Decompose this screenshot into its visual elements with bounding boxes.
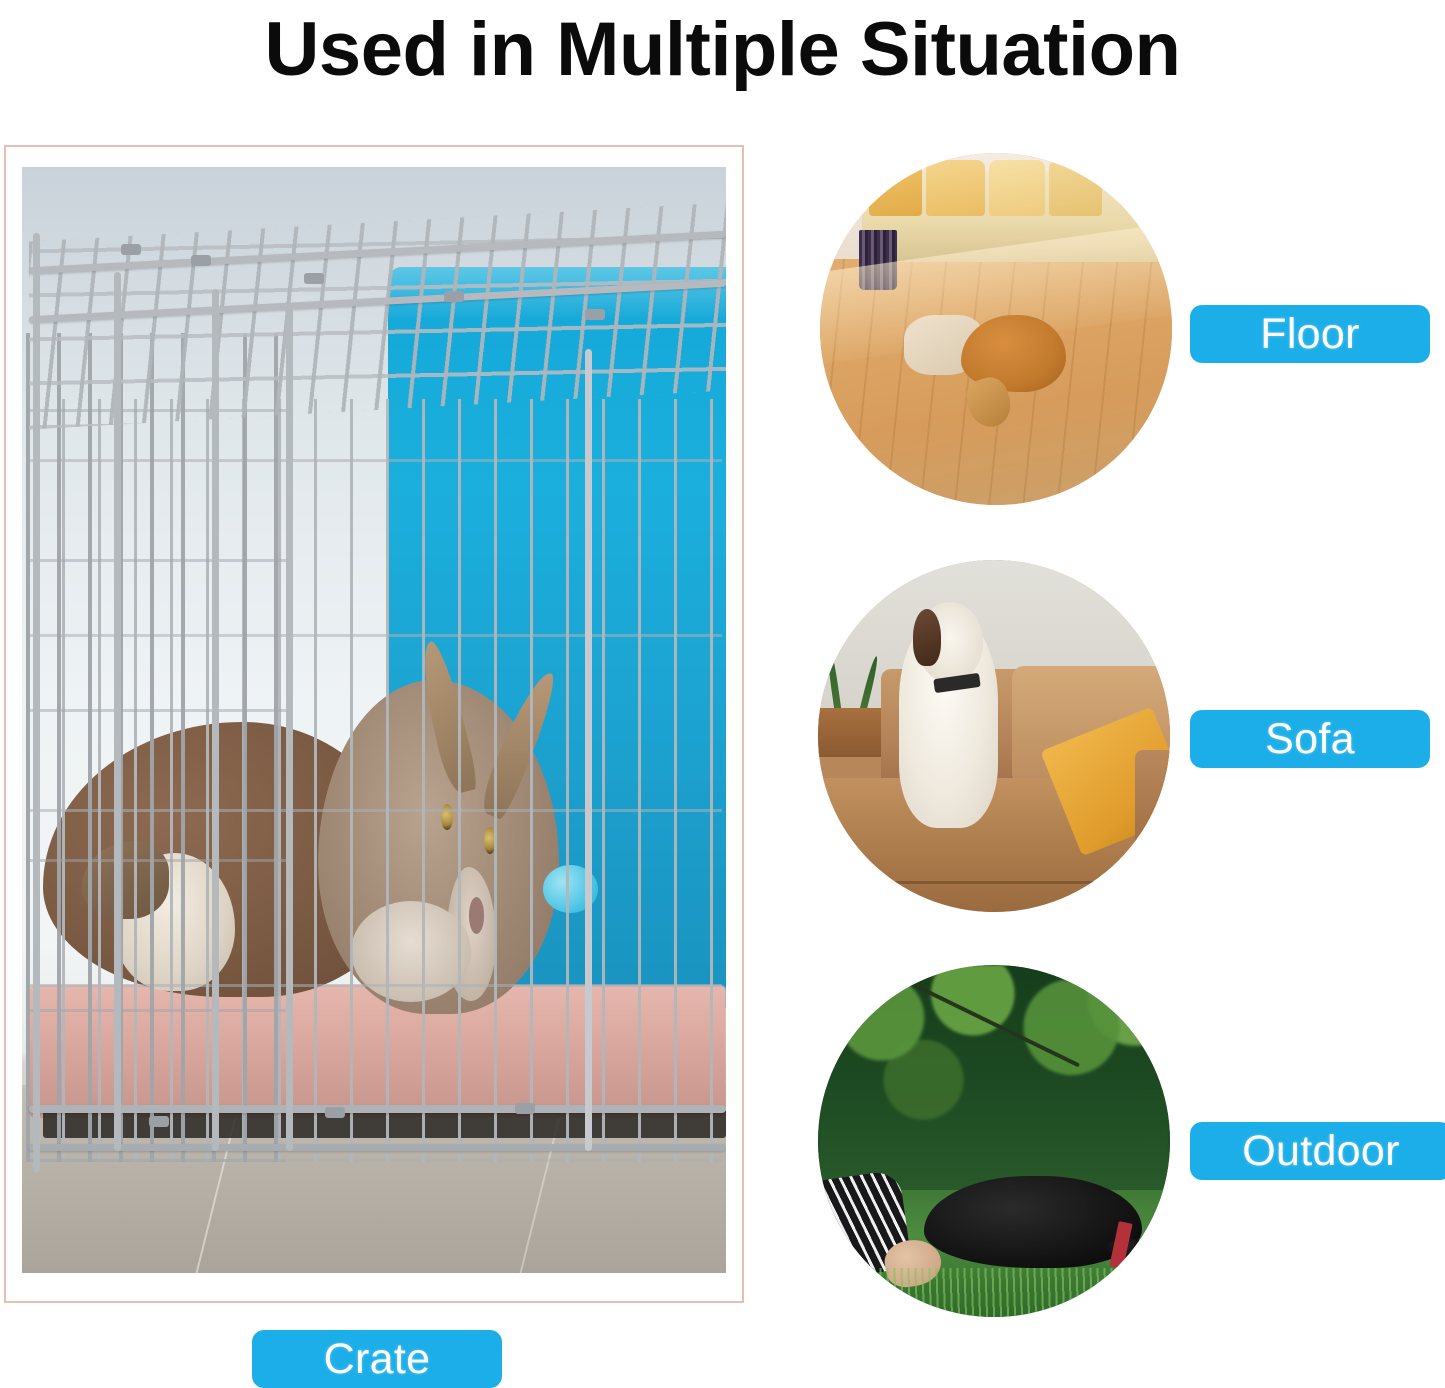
label-crate[interactable]: Crate xyxy=(252,1330,502,1388)
gold-cushion-1 xyxy=(869,160,922,216)
crate-post-2 xyxy=(114,272,121,1151)
crate-post-4 xyxy=(286,305,293,1151)
crate-rail-bottom-inner xyxy=(29,1144,726,1151)
crate-clip-2 xyxy=(191,255,211,266)
crate-clip-7 xyxy=(325,1107,345,1118)
crate-clip-5 xyxy=(585,309,605,320)
thumbnail-outdoor[interactable] xyxy=(818,965,1170,1317)
grass-blades xyxy=(818,1268,1170,1317)
thumbnail-floor[interactable] xyxy=(820,153,1172,505)
crate-post-1 xyxy=(33,233,40,1173)
wire-crate xyxy=(22,167,726,1273)
sofa-seat-seam xyxy=(818,881,1170,884)
sofa-scene xyxy=(818,560,1170,912)
thumbnail-sofa[interactable] xyxy=(818,560,1170,912)
crate-clip-3 xyxy=(304,273,324,284)
crate-clip-6 xyxy=(149,1116,169,1127)
background-trees xyxy=(818,965,1170,1204)
gold-cushion-3 xyxy=(989,160,1045,216)
page-title: Used in Multiple Situation xyxy=(0,0,1445,98)
sofa-leg-3 xyxy=(1141,196,1144,204)
floor-scene xyxy=(820,153,1172,505)
crate-clip-8 xyxy=(515,1103,535,1114)
label-floor-text: Floor xyxy=(1260,310,1359,359)
crate-clip-4 xyxy=(444,291,464,302)
infographic-page: Used in Multiple Situation xyxy=(0,0,1445,1388)
label-sofa[interactable]: Sofa xyxy=(1190,710,1430,768)
label-sofa-text: Sofa xyxy=(1265,715,1355,764)
label-floor[interactable]: Floor xyxy=(1190,305,1430,363)
sofa-armrest xyxy=(1135,750,1170,884)
gold-cushion-2 xyxy=(926,160,986,216)
crate-rail-bottom-outer xyxy=(29,1105,726,1113)
crate-post-3 xyxy=(212,289,219,1152)
label-crate-text: Crate xyxy=(324,1335,431,1384)
crate-post-5 xyxy=(585,349,592,1151)
crate-mesh-left-door xyxy=(26,333,286,1163)
crate-photo xyxy=(22,167,726,1273)
outdoor-dog xyxy=(924,1176,1142,1268)
outdoor-scene xyxy=(818,965,1170,1317)
gold-cushion-4 xyxy=(1049,160,1102,216)
crate-clip-1 xyxy=(121,244,141,255)
sofa-dog-ear xyxy=(913,609,941,665)
label-outdoor-text: Outdoor xyxy=(1242,1127,1399,1176)
crate-photo-frame xyxy=(4,145,744,1303)
label-outdoor[interactable]: Outdoor xyxy=(1190,1122,1445,1180)
